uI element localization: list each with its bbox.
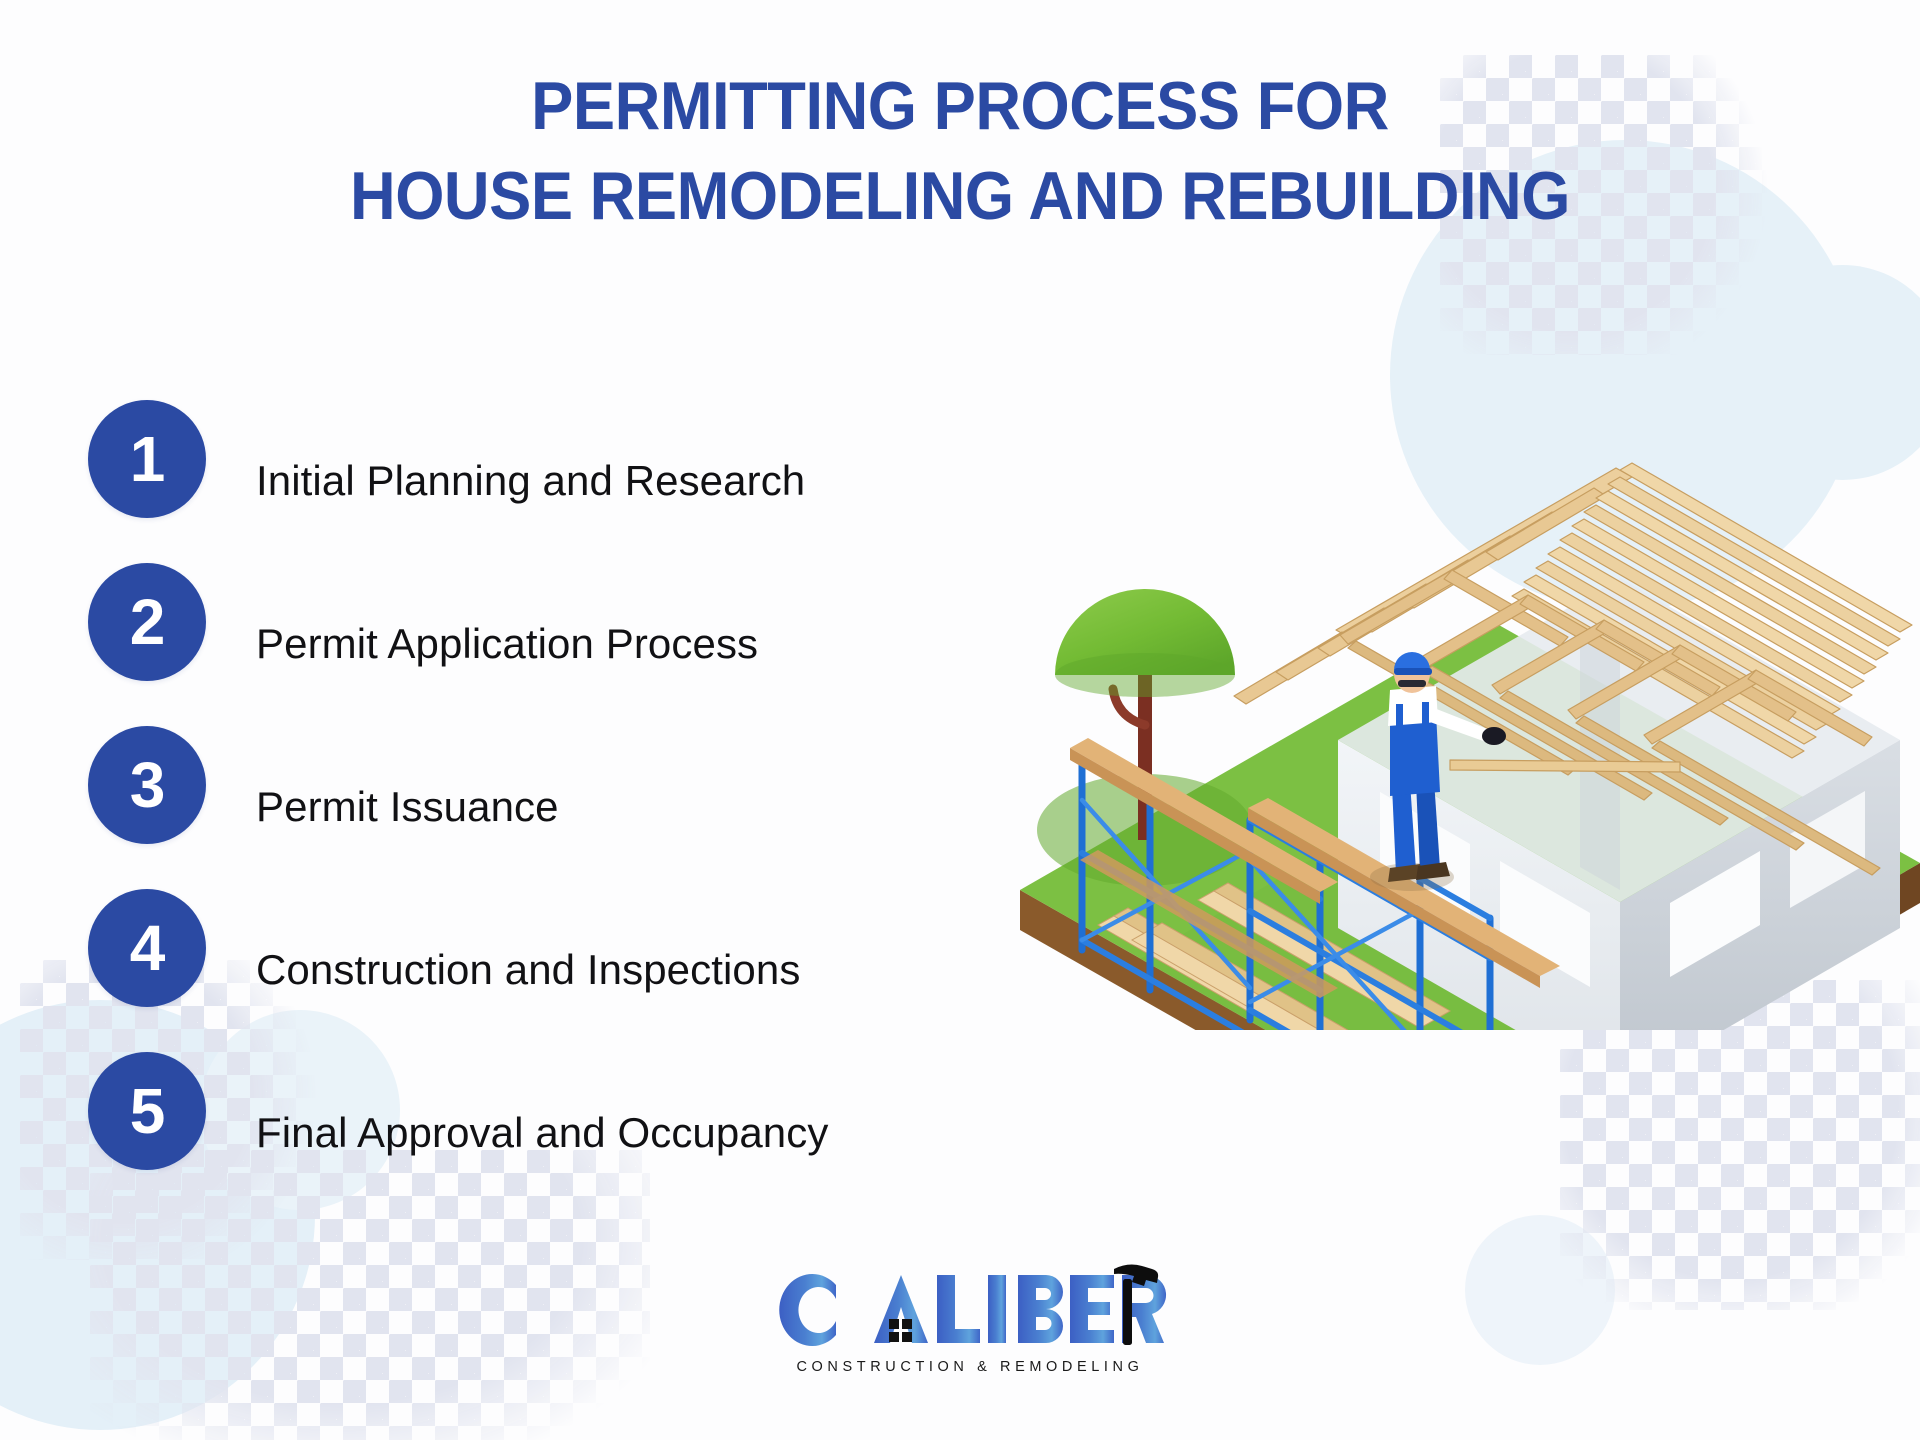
worker-goggles [1398, 680, 1426, 687]
worker-glove [1482, 727, 1506, 745]
tree-foliage-base [1055, 653, 1235, 697]
logo-letter-l [937, 1275, 980, 1343]
logo-tagline: CONSTRUCTION & REMODELING [770, 1359, 1170, 1375]
decorative-circle-bottom-right [1465, 1215, 1615, 1365]
process-step[interactable]: 1 Initial Planning and Research [88, 400, 828, 563]
step-number-badge: 2 [88, 563, 206, 681]
beam-in-hand [1450, 760, 1680, 772]
process-step[interactable]: 4 Construction and Inspections [88, 889, 828, 1052]
caliber-wordmark-svg [770, 1255, 1170, 1355]
logo-letter-a-house [874, 1275, 928, 1343]
worker-strap-left [1396, 704, 1403, 726]
step-label: Final Approval and Occupancy [256, 1110, 828, 1156]
brand-logo[interactable]: CONSTRUCTION & REMODELING [770, 1255, 1170, 1390]
title-line-1: PERMITTING PROCESS FOR [531, 68, 1389, 144]
worker-cap-brim [1394, 668, 1432, 675]
page-title: PERMITTING PROCESS FOR HOUSE REMODELING … [67, 62, 1853, 242]
logo-letter-e [1070, 1275, 1114, 1343]
step-number-badge: 4 [88, 889, 206, 1007]
worker-strap-right [1422, 702, 1429, 724]
construction-illustration [1020, 330, 1920, 1030]
logo-letter-c [779, 1274, 836, 1346]
step-label: Permit Application Process [256, 621, 758, 667]
step-number-badge: 5 [88, 1052, 206, 1170]
step-label: Permit Issuance [256, 784, 559, 830]
step-number-badge: 3 [88, 726, 206, 844]
logo-letter-i [988, 1275, 1006, 1343]
process-step[interactable]: 2 Permit Application Process [88, 563, 828, 726]
step-number-badge: 1 [88, 400, 206, 518]
process-step[interactable]: 5 Final Approval and Occupancy [88, 1052, 828, 1215]
step-label: Construction and Inspections [256, 947, 800, 993]
construction-scene-svg [1020, 330, 1920, 1030]
title-line-2: HOUSE REMODELING AND REBUILDING [67, 152, 1853, 242]
process-step[interactable]: 3 Permit Issuance [88, 726, 828, 889]
step-label: Initial Planning and Research [256, 458, 805, 504]
infographic-canvas: PERMITTING PROCESS FOR HOUSE REMODELING … [0, 0, 1920, 1440]
logo-letter-b [1018, 1275, 1063, 1343]
process-step-list: 1 Initial Planning and Research 2 Permit… [88, 400, 828, 1215]
